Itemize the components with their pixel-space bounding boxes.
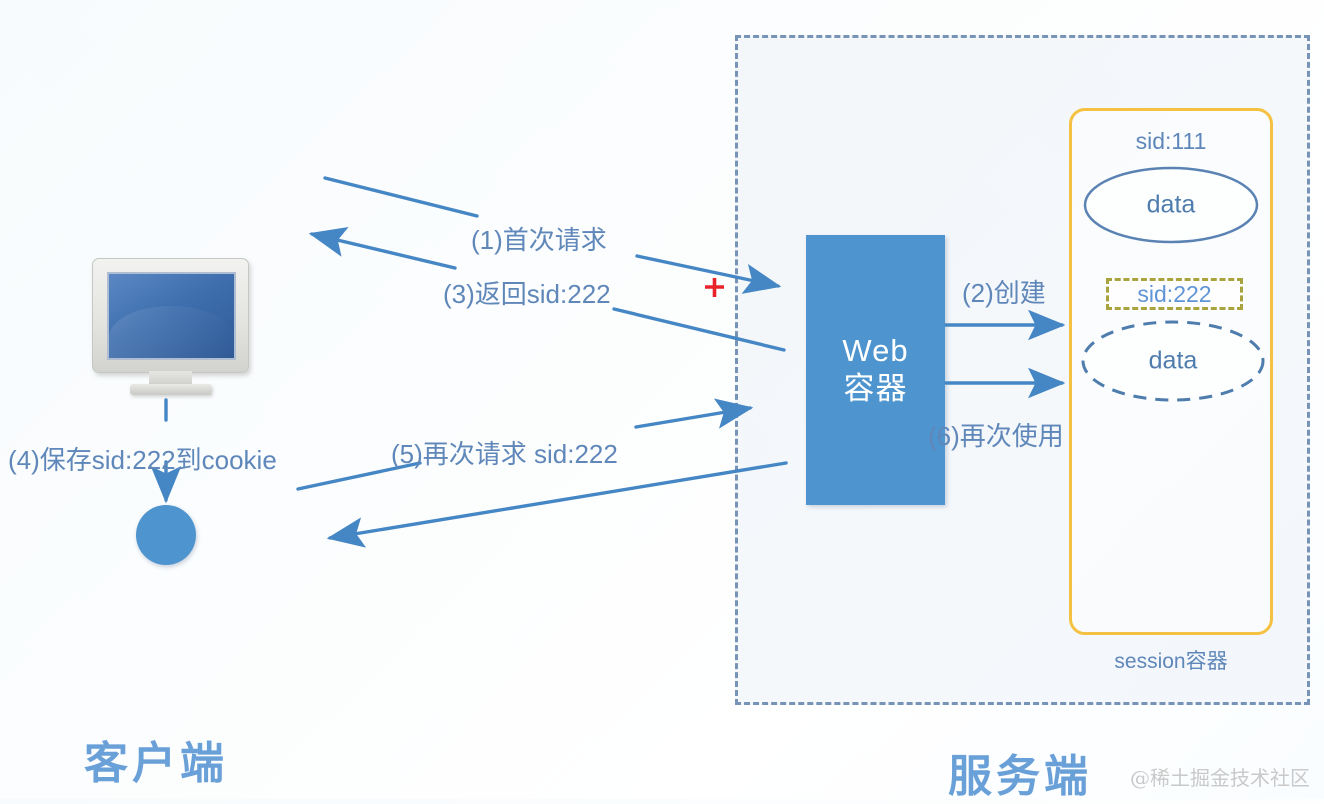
client-title: 客户端 [84, 727, 228, 791]
flow-6-label: (6)再次使用 [928, 416, 1064, 453]
flow-1-line-a [325, 178, 477, 216]
flow-4-label: (4)保存sid:222到cookie [8, 440, 277, 477]
flow-bottom-return-line [330, 463, 786, 538]
arrow-layer [0, 0, 1324, 799]
flow-1-line-b [637, 256, 778, 286]
watermark: @稀土掘金技术社区 [1130, 762, 1310, 791]
flow-3-line-b [614, 309, 784, 350]
diagram-canvas: sid:111 data sid:222 data session容器 Web … [0, 0, 1324, 799]
flow-5-line-b [636, 408, 750, 427]
server-title: 服务端 [948, 740, 1092, 804]
flow-3-line-a [312, 234, 455, 268]
flow-5-label: (5)再次请求 sid:222 [391, 434, 618, 471]
flow-3-label: (3)返回sid:222 [443, 274, 611, 311]
flow-2-label: (2)创建 [962, 273, 1046, 310]
flow-1-label: (1)首次请求 [471, 220, 607, 257]
red-plus-marker [705, 278, 724, 297]
